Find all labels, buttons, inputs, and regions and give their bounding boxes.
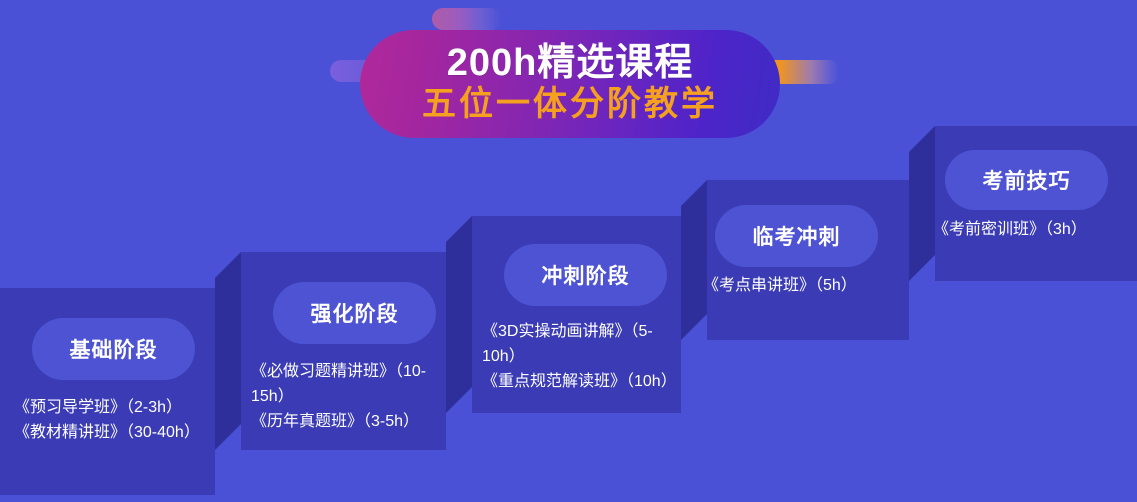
course-item: 《考点串讲班》（5h） bbox=[703, 274, 903, 299]
course-item: 《3D实操动画讲解》（5-10h） bbox=[482, 320, 686, 370]
banner-title-pill: 200h精选课程 五位一体分阶教学 bbox=[360, 30, 780, 138]
step-course-list-4: 《考点串讲班》（5h） bbox=[703, 274, 903, 299]
step-course-list-2: 《必做习题精讲班》（10-15h） 《历年真题班》（3-5h） bbox=[251, 360, 451, 434]
course-item: 《考前密训班》（3h） bbox=[933, 218, 1129, 243]
step-side-panel bbox=[215, 252, 241, 450]
step-block-2[interactable]: 强化阶段 《必做习题精讲班》（10-15h） 《历年真题班》（3-5h） bbox=[215, 252, 446, 502]
step-badge-4: 临考冲刺 bbox=[715, 205, 878, 267]
step-course-list-3: 《3D实操动画讲解》（5-10h） 《重点规范解读班》（10h） bbox=[482, 320, 686, 394]
step-block-3[interactable]: 冲刺阶段 《3D实操动画讲解》（5-10h） 《重点规范解读班》（10h） bbox=[446, 216, 681, 502]
step-badge-2: 强化阶段 bbox=[273, 282, 436, 344]
step-badge-1: 基础阶段 bbox=[32, 318, 195, 380]
step-side-panel bbox=[909, 126, 935, 281]
infographic-canvas: 200h精选课程 五位一体分阶教学 基础阶段 《预习导学班》（2-3h） 《教材… bbox=[0, 0, 1137, 502]
banner-headline-primary: 200h精选课程 bbox=[447, 44, 694, 84]
course-item: 《必做习题精讲班》（10-15h） bbox=[251, 360, 451, 410]
step-side-panel bbox=[446, 216, 472, 413]
step-badge-label: 强化阶段 bbox=[311, 298, 399, 328]
step-course-list-1: 《预习导学班》（2-3h） 《教材精讲班》（30-40h） bbox=[14, 396, 210, 446]
step-badge-5: 考前技巧 bbox=[945, 150, 1108, 210]
step-course-list-5: 《考前密训班》（3h） bbox=[933, 218, 1129, 243]
step-block-4[interactable]: 临考冲刺 《考点串讲班》（5h） bbox=[681, 180, 909, 502]
course-item: 《重点规范解读班》（10h） bbox=[482, 370, 686, 395]
step-badge-label: 临考冲刺 bbox=[753, 221, 841, 251]
step-side-panel bbox=[681, 180, 707, 340]
decorative-bar-purple-icon bbox=[432, 8, 502, 30]
step-badge-label: 考前技巧 bbox=[983, 165, 1071, 195]
banner-headline-secondary: 五位一体分阶教学 bbox=[422, 85, 718, 124]
step-block-1[interactable]: 基础阶段 《预习导学班》（2-3h） 《教材精讲班》（30-40h） bbox=[0, 288, 215, 502]
step-badge-3: 冲刺阶段 bbox=[504, 244, 667, 306]
course-item: 《教材精讲班》（30-40h） bbox=[14, 421, 210, 446]
course-item: 《历年真题班》（3-5h） bbox=[251, 410, 451, 435]
step-badge-label: 基础阶段 bbox=[70, 334, 158, 364]
step-badge-label: 冲刺阶段 bbox=[542, 260, 630, 290]
step-block-5[interactable]: 考前技巧 《考前密训班》（3h） bbox=[909, 126, 1137, 502]
course-item: 《预习导学班》（2-3h） bbox=[14, 396, 210, 421]
